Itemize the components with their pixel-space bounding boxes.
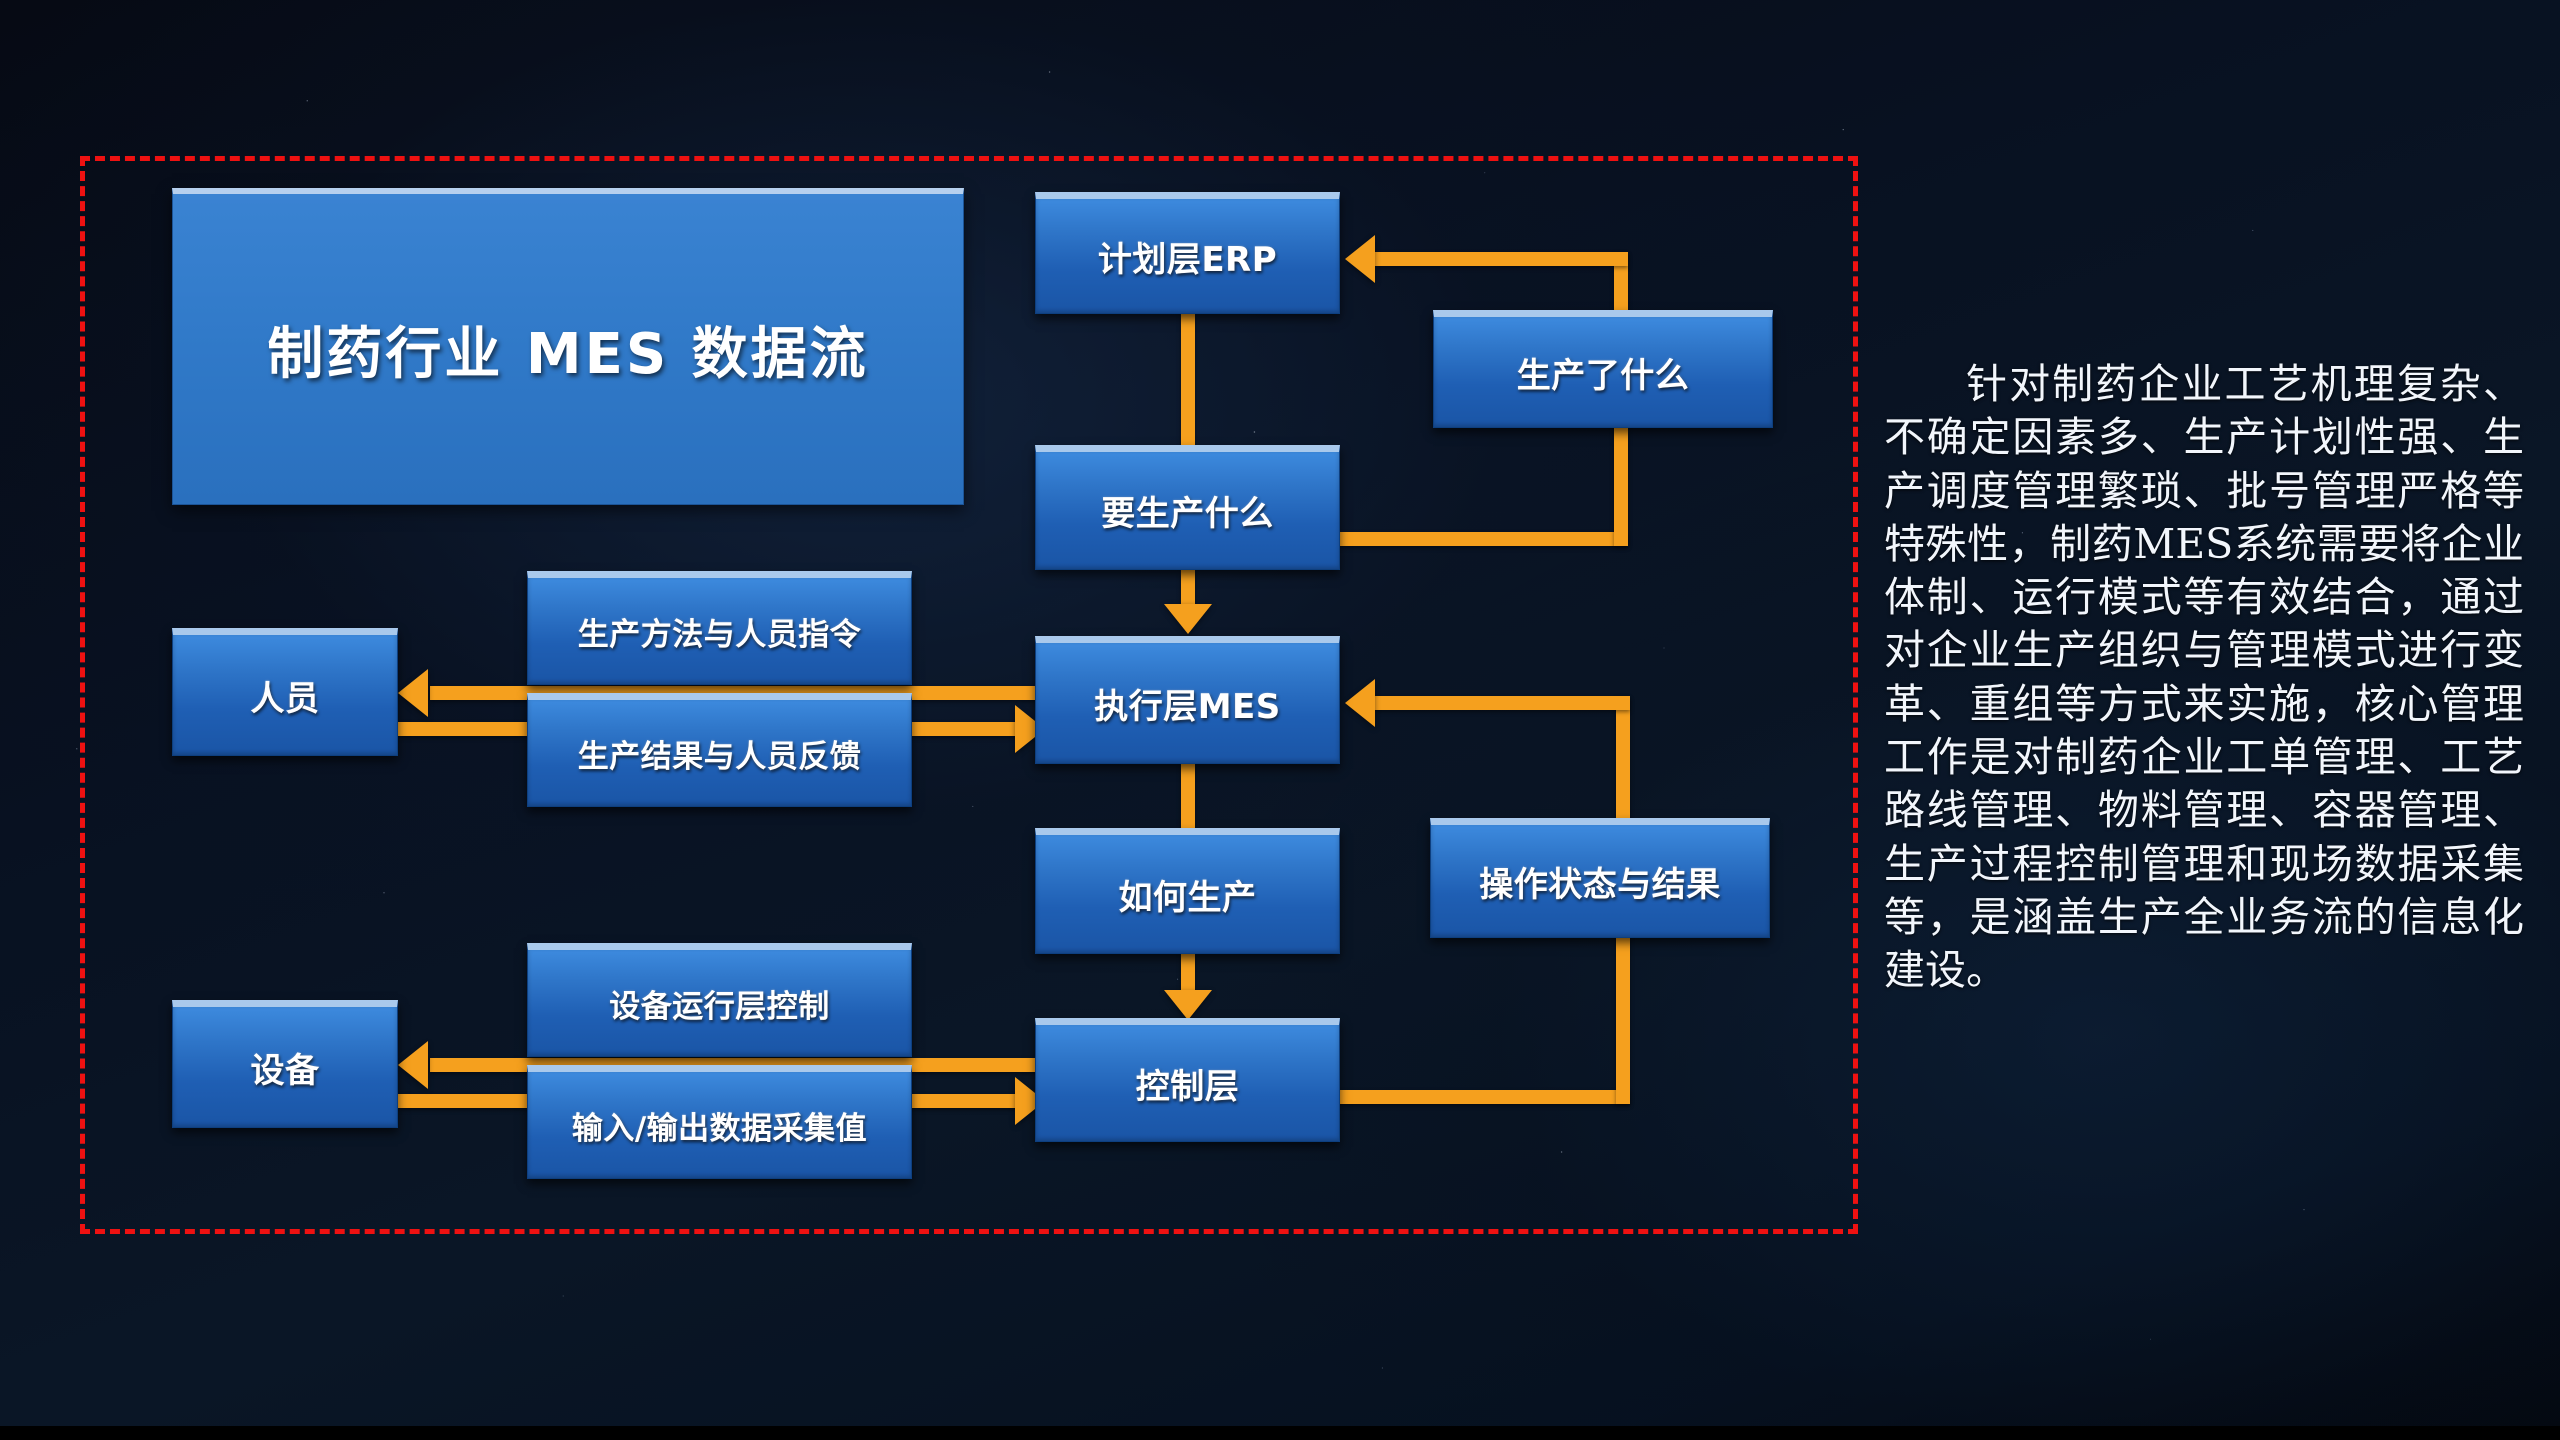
node-control-layer[interactable]: 控制层 bbox=[1035, 1018, 1340, 1142]
node-equipment[interactable]: 设备 bbox=[172, 1000, 398, 1128]
label-equipment-control[interactable]: 设备运行层控制 bbox=[527, 943, 912, 1057]
label-equipment-data[interactable]: 输入/输出数据采集值 bbox=[527, 1065, 912, 1179]
connector-status-h-top bbox=[1375, 696, 1630, 710]
node-operation-status-result[interactable]: 操作状态与结果 bbox=[1430, 818, 1770, 938]
connector-feedback-h-top bbox=[1375, 252, 1628, 266]
node-planning-erp[interactable]: 计划层ERP bbox=[1035, 192, 1340, 314]
arrowhead-into-erp bbox=[1345, 235, 1375, 283]
slide-canvas: 制药行业 MES 数据流 计划层ERP 生产了什么 要生产什么 执行层MES 如… bbox=[0, 0, 2560, 1440]
connector-feedback-h-bottom bbox=[1336, 532, 1628, 546]
node-execution-mes[interactable]: 执行层MES bbox=[1035, 636, 1340, 764]
node-produced-what[interactable]: 生产了什么 bbox=[1433, 310, 1773, 428]
arrowhead-into-equipment bbox=[398, 1041, 428, 1089]
arrowhead-into-control-top bbox=[1164, 990, 1212, 1020]
label-personnel-instruction[interactable]: 生产方法与人员指令 bbox=[527, 571, 912, 685]
node-how-to-produce[interactable]: 如何生产 bbox=[1035, 828, 1340, 954]
node-produce-what[interactable]: 要生产什么 bbox=[1035, 445, 1340, 570]
connector-erp-to-produce-what bbox=[1181, 312, 1195, 447]
arrowhead-into-personnel bbox=[398, 669, 428, 717]
diagram-title-card: 制药行业 MES 数据流 bbox=[172, 188, 964, 505]
node-personnel[interactable]: 人员 bbox=[172, 628, 398, 756]
connector-status-h-bottom bbox=[1336, 1090, 1630, 1104]
connector-mes-to-how bbox=[1181, 762, 1195, 834]
arrowhead-into-mes-top bbox=[1164, 604, 1212, 634]
arrowhead-into-mes-right bbox=[1345, 679, 1375, 727]
bottom-black-bar bbox=[0, 1426, 2560, 1440]
label-personnel-feedback[interactable]: 生产结果与人员反馈 bbox=[527, 693, 912, 807]
description-paragraph: 针对制药企业工艺机理复杂、不确定因素多、生产计划性强、生产调度管理繁琐、批号管理… bbox=[1884, 358, 2524, 998]
